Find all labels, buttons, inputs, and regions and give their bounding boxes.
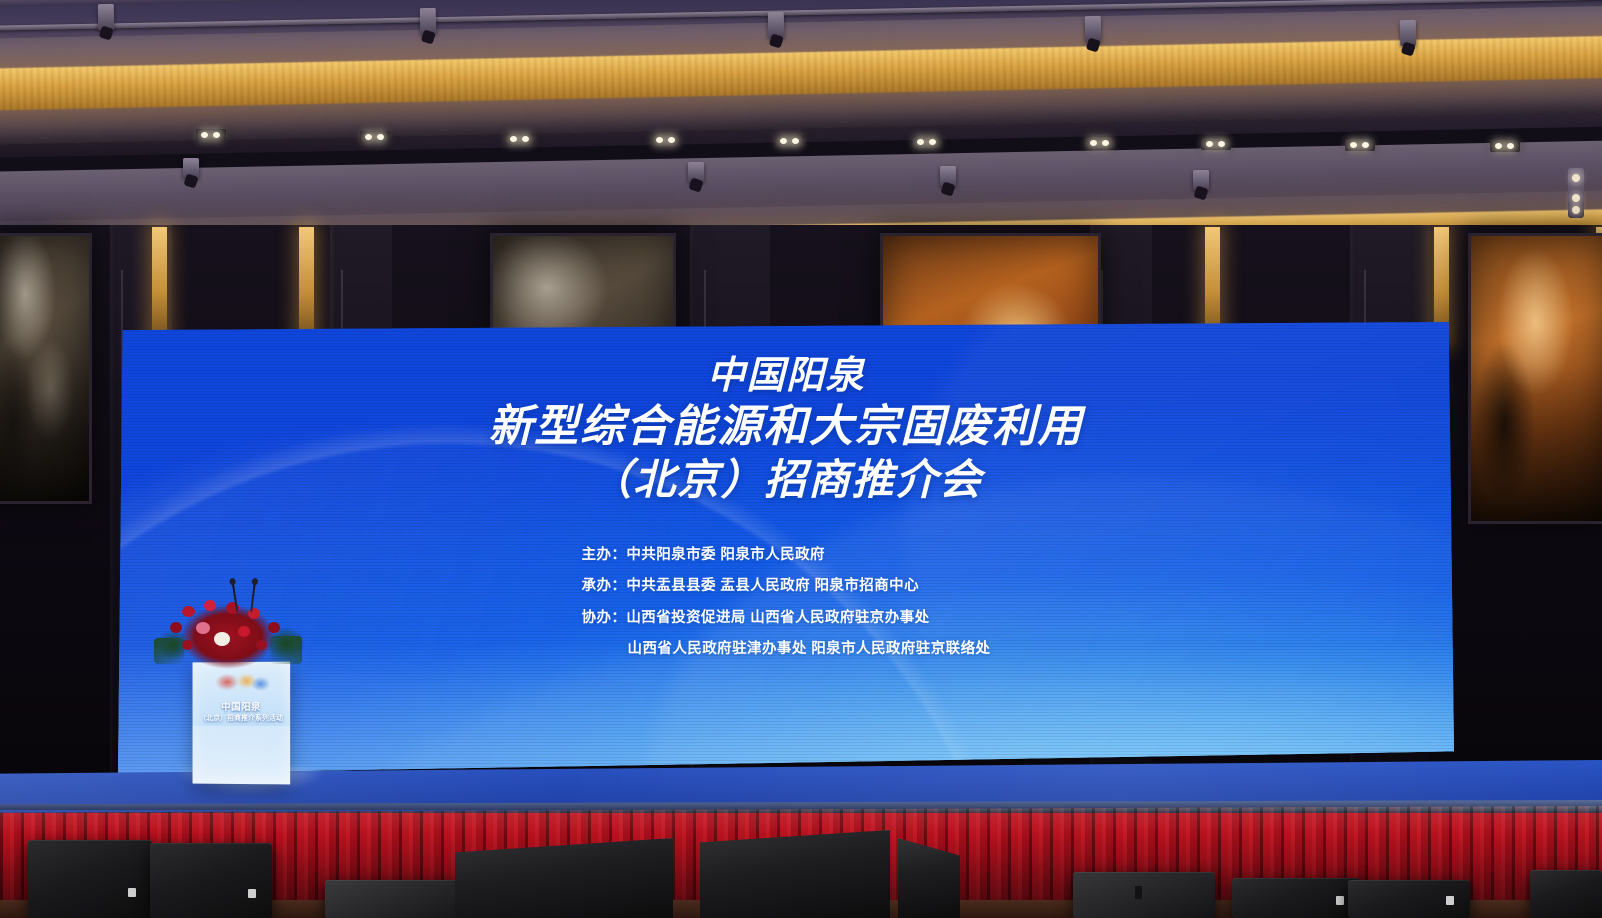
truss-spotlight-icon — [1085, 16, 1101, 42]
speaker-handle-icon — [1135, 886, 1142, 899]
organizer-line-host: 主办：中共阳泉市委 阳泉市人民政府 — [582, 540, 991, 571]
truss-spotlight-icon — [1400, 20, 1416, 46]
flower-petal — [196, 622, 210, 634]
soffit-spotlight-icon — [183, 158, 199, 178]
downlight-icon — [912, 136, 942, 148]
event-title-line-3: （北京）招商推介会 — [118, 455, 1454, 505]
stage-photograph: 中国阳泉 新型综合能源和大宗固废利用 （北京）招商推介会 主办：中共阳泉市委 阳… — [0, 0, 1602, 918]
podium-sign-line-2: （北京）招商推介系列活动 — [193, 712, 291, 722]
pa-speaker-stack — [150, 843, 272, 918]
pa-speaker-stack — [1348, 880, 1470, 918]
art-panel-right — [1468, 233, 1602, 524]
pa-speaker-stack — [28, 840, 152, 918]
organizer-line-coorganizer: 协办：山西省投资促进局 山西省人民政府驻京办事处 — [582, 603, 991, 634]
gold-accent-strip — [299, 227, 314, 345]
podium-sign-line-1: 中国阳泉 — [193, 699, 291, 713]
wall-sconce-icon — [1568, 168, 1584, 218]
flower-foliage — [270, 636, 302, 664]
flower-petal — [182, 606, 195, 617]
truss-spotlight-icon — [420, 8, 436, 34]
subwoofer-cabinet — [325, 880, 465, 918]
flower-foliage — [154, 638, 184, 664]
led-backdrop-screen: 中国阳泉 新型综合能源和大宗固废利用 （北京）招商推介会 主办：中共阳泉市委 阳… — [118, 322, 1454, 774]
subwoofer-cabinet — [1073, 872, 1215, 918]
organizer-line-undertaker: 承办：中共盂县县委 盂县人民政府 阳泉市招商中心 — [582, 571, 991, 602]
soffit-spotlight-icon — [1193, 170, 1209, 190]
stage-monitor-wedge — [700, 830, 890, 918]
downlight-icon — [505, 133, 535, 145]
speaker-podium: 中国阳泉 （北京）招商推介系列活动 — [193, 662, 291, 785]
soffit-spotlight-icon — [688, 162, 704, 182]
truss-spotlight-icon — [98, 4, 114, 30]
flower-petal — [238, 626, 250, 637]
speaker-badge — [1336, 896, 1344, 905]
downlight-icon — [1085, 137, 1115, 149]
flower-petal — [170, 622, 182, 633]
downlight-icon — [651, 134, 681, 146]
downlight-icon — [360, 131, 390, 143]
ceiling — [0, 0, 1602, 236]
downlight-icon — [775, 135, 805, 147]
flower-petal — [268, 622, 280, 633]
downlight-icon — [196, 129, 226, 141]
screen-text-block: 中国阳泉 新型综合能源和大宗固废利用 （北京）招商推介会 主办：中共阳泉市委 阳… — [118, 354, 1454, 665]
art-panel-left — [0, 233, 92, 504]
downlight-icon — [1345, 139, 1375, 151]
event-title-line-2: 新型综合能源和大宗固废利用 — [118, 401, 1454, 453]
speaker-badge — [248, 889, 256, 898]
flower-petal — [214, 632, 230, 646]
flower-petal — [204, 600, 216, 611]
event-title-line-1: 中国阳泉 — [118, 354, 1454, 399]
truss-spotlight-icon — [768, 12, 784, 38]
speaker-badge — [1446, 896, 1454, 905]
pa-speaker-stack — [1232, 878, 1360, 918]
speaker-badge — [128, 888, 136, 897]
soffit-spotlight-icon — [940, 166, 956, 186]
organizer-block: 主办：中共阳泉市委 阳泉市人民政府 承办：中共盂县县委 盂县人民政府 阳泉市招商… — [582, 540, 991, 665]
organizer-line-coorganizer-cont: 山西省人民政府驻津办事处 阳泉市人民政府驻京联络处 — [582, 634, 991, 665]
gold-accent-strip — [152, 227, 167, 345]
podium-flower-arrangement — [152, 592, 304, 678]
downlight-icon — [1490, 140, 1520, 152]
pa-speaker-stack — [1530, 870, 1602, 918]
flower-petal — [256, 640, 267, 650]
downlight-icon — [1201, 138, 1231, 150]
